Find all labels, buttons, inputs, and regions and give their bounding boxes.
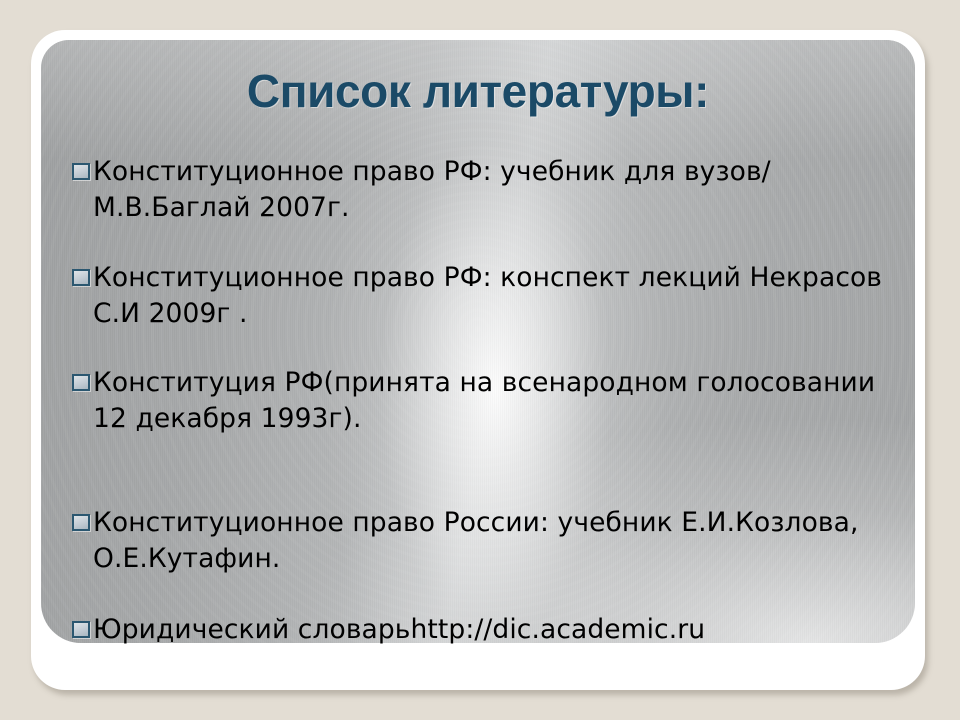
list-item-label: Конституционное право РФ: учебник для ву… bbox=[93, 154, 912, 226]
square-bullet-icon bbox=[72, 374, 90, 391]
square-bullet-icon bbox=[72, 269, 90, 286]
list-item: Конституционное право РФ: учебник для ву… bbox=[72, 154, 912, 226]
list-item: Юридический словарьhttp://dic.academic.r… bbox=[72, 612, 912, 648]
list-item: Конституционное право РФ: конспект лекци… bbox=[72, 260, 912, 332]
list-item-label: Конституция РФ(принята на всенародном го… bbox=[93, 365, 912, 437]
list-item-label: Конституционное право России: учебник Е.… bbox=[93, 505, 912, 577]
list-item-label: Конституционное право РФ: конспект лекци… bbox=[93, 260, 912, 332]
list-item: Конституционное право России: учебник Е.… bbox=[72, 505, 912, 577]
reference-bullet-list: Конституционное право РФ: учебник для ву… bbox=[72, 154, 912, 648]
square-bullet-icon bbox=[72, 163, 90, 180]
square-bullet-icon bbox=[72, 621, 90, 638]
slide-frame: Список литературы: Конституционное право… bbox=[31, 30, 925, 690]
list-item: Конституция РФ(принята на всенародном го… bbox=[72, 365, 912, 437]
square-bullet-icon bbox=[72, 514, 90, 531]
list-item-label: Юридический словарьhttp://dic.academic.r… bbox=[93, 612, 912, 648]
slide-title: Список литературы: bbox=[31, 68, 925, 114]
